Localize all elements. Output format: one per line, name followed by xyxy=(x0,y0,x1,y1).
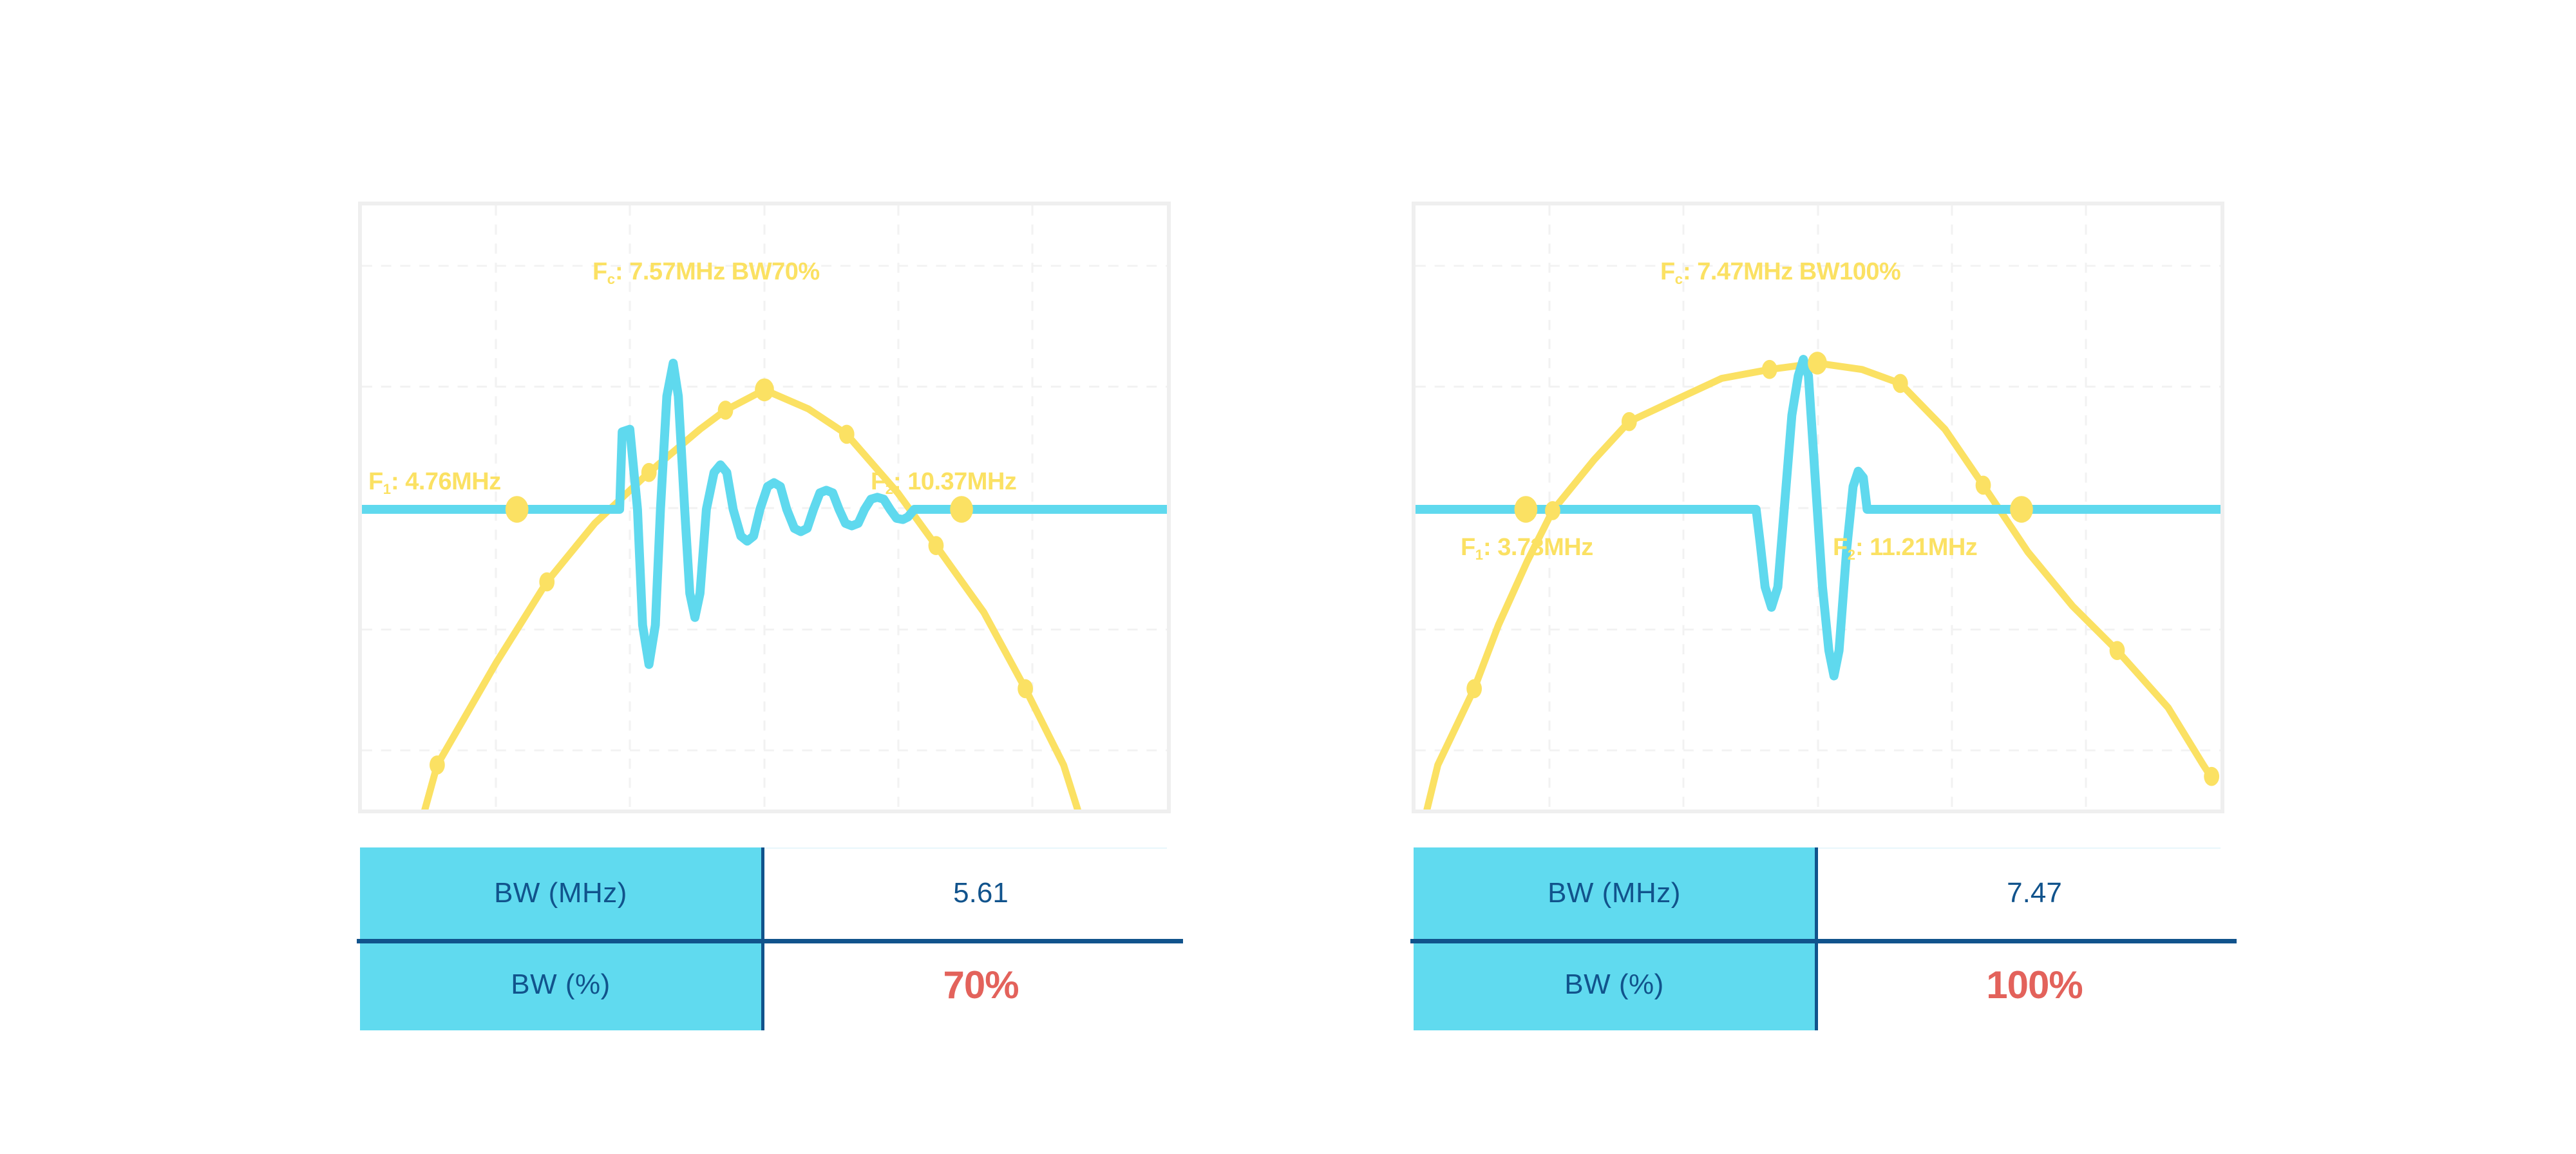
f2-symbol: F xyxy=(1833,534,1848,561)
table-top-rule xyxy=(1818,847,2221,849)
f2-symbol: F xyxy=(871,468,885,495)
right-chart-plot-area: Fc: 7.47MHz BW100% F1: 3.73MHz F2: 11.21… xyxy=(1412,202,2224,813)
right-lower-cutoff-label: F1: 3.73MHz xyxy=(1461,535,1593,560)
bw-mhz-value: 7.47 xyxy=(1818,847,2251,939)
left-chart-svg xyxy=(362,205,1167,809)
f1-marker-dot xyxy=(1515,496,1538,522)
f1-marker-dot xyxy=(506,496,529,522)
f1-subscript: 1 xyxy=(1475,547,1483,563)
fc-text: : 7.57MHz BW70% xyxy=(615,258,820,285)
right-bandwidth-table: BW (MHz) 7.47 BW (%) 100% xyxy=(1414,847,2251,1034)
f2-subscript: 2 xyxy=(1848,547,1855,563)
bw-percent-value: 100% xyxy=(1818,939,2251,1030)
f2-text: : 10.37MHz xyxy=(893,468,1016,495)
bw-mhz-value: 5.61 xyxy=(764,847,1197,939)
bw-mhz-label: BW (MHz) xyxy=(1414,847,1818,939)
f1-text: : 3.73MHz xyxy=(1483,534,1593,561)
right-center-frequency-label: Fc: 7.47MHz BW100% xyxy=(1660,260,1900,284)
f1-symbol: F xyxy=(1461,534,1475,561)
fc-symbol: F xyxy=(1660,258,1675,285)
table-row-divider xyxy=(357,939,1183,943)
bw-mhz-label: BW (MHz) xyxy=(360,847,764,939)
f1-text: : 4.76MHz xyxy=(391,468,501,495)
f1-symbol: F xyxy=(368,468,383,495)
bw-percent-label: BW (%) xyxy=(360,939,764,1030)
f2-marker-dot xyxy=(950,496,973,522)
bw-percent-value: 70% xyxy=(764,939,1197,1030)
right-chart-svg xyxy=(1416,205,2221,809)
fc-text: : 7.47MHz BW100% xyxy=(1683,258,1900,285)
left-lower-cutoff-label: F1: 4.76MHz xyxy=(368,469,501,494)
fc-subscript: c xyxy=(607,271,615,287)
f2-subscript: 2 xyxy=(885,481,893,497)
table-top-rule xyxy=(764,847,1167,849)
panel-right: Fc: 7.47MHz BW100% F1: 3.73MHz F2: 11.21… xyxy=(1412,202,2224,813)
f2-marker-dot xyxy=(2010,496,2033,522)
f1-subscript: 1 xyxy=(383,481,391,497)
f2-text: : 11.21MHz xyxy=(1855,534,1977,561)
left-upper-cutoff-label: F2: 10.37MHz xyxy=(871,469,1016,494)
fc-subscript: c xyxy=(1675,271,1683,287)
panel-left: Fc: 7.57MHz BW70% F1: 4.76MHz F2: 10.37M… xyxy=(358,202,1171,813)
table-row: BW (%) 70% xyxy=(360,939,1197,1030)
table-row: BW (%) 100% xyxy=(1414,939,2251,1030)
spectrum-curve xyxy=(423,390,1077,809)
table-row-divider xyxy=(1410,939,2237,943)
spectrum-marker-dots xyxy=(430,379,1033,775)
bw-percent-label: BW (%) xyxy=(1414,939,1818,1030)
table-row: BW (MHz) 7.47 xyxy=(1414,847,2251,939)
left-chart-plot-area: Fc: 7.57MHz BW70% F1: 4.76MHz F2: 10.37M… xyxy=(358,202,1171,813)
table-row: BW (MHz) 5.61 xyxy=(360,847,1197,939)
fc-symbol: F xyxy=(592,258,607,285)
left-center-frequency-label: Fc: 7.57MHz BW70% xyxy=(592,260,820,284)
figure-root: Fc: 7.57MHz BW70% F1: 4.76MHz F2: 10.37M… xyxy=(0,0,2576,1154)
right-upper-cutoff-label: F2: 11.21MHz xyxy=(1833,535,1977,560)
left-bandwidth-table: BW (MHz) 5.61 BW (%) 70% xyxy=(360,847,1197,1034)
